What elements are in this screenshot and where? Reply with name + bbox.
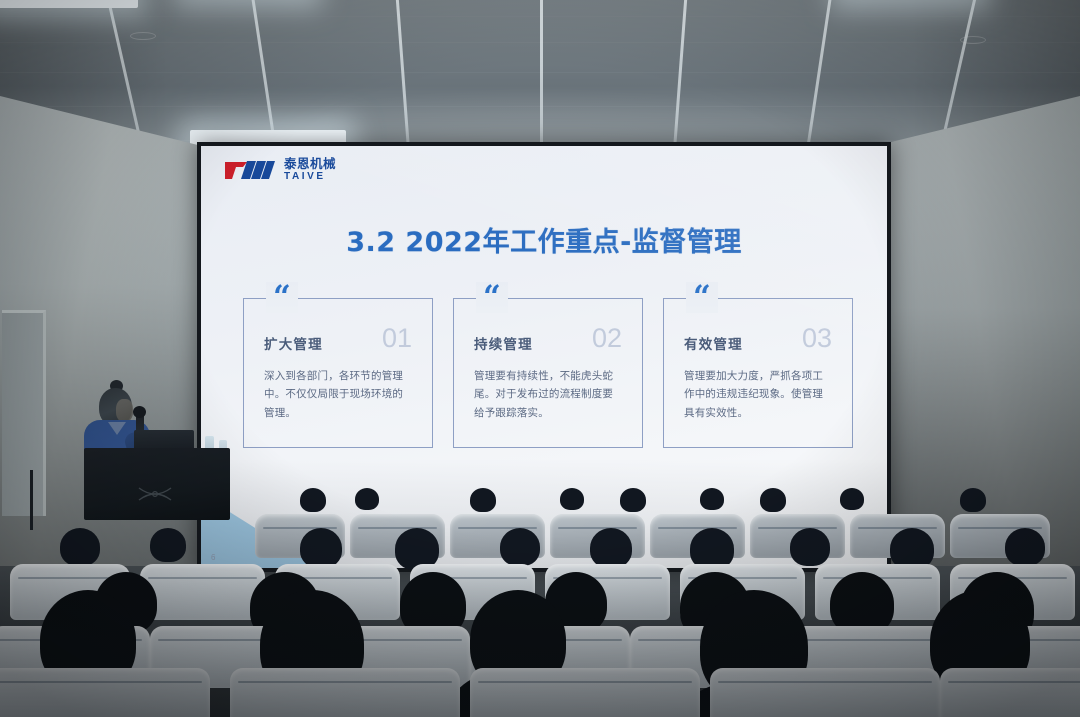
audience-seat: [0, 668, 210, 717]
audience-member-head: [300, 488, 326, 512]
company-logo: 泰恩机械 TAIVE: [223, 158, 336, 182]
audience-member-head: [960, 488, 986, 512]
audience-member-head: [590, 528, 632, 568]
audience-seat: [940, 668, 1080, 717]
audience-member-head: [760, 488, 786, 512]
audience-member-head: [790, 528, 830, 566]
audience-member-head: [840, 488, 864, 510]
card-body-text: 深入到各部门，各环节的管理中。不仅仅局限于现场环境的管理。: [264, 367, 412, 422]
audience-member-head: [355, 488, 379, 510]
audience-member-head: [500, 528, 540, 566]
logo-chinese-name: 泰恩机械: [284, 158, 336, 171]
audience-member-head: [60, 528, 100, 566]
ceiling-seam: [0, 72, 1080, 73]
card-number: 03: [802, 325, 832, 352]
ceiling-seam: [0, 16, 1080, 17]
card-body-text: 管理要加大力度，严抓各项工作中的违规违纪现象。使管理具有实效性。: [684, 367, 832, 422]
ceiling-rail: [540, 0, 543, 162]
audience-member-head: [700, 488, 724, 510]
audience-seat: [710, 668, 940, 717]
audience-member-head: [470, 488, 496, 512]
audience-member-head: [620, 488, 646, 512]
card-number: 01: [382, 325, 412, 352]
ceiling-vent-1: [130, 32, 156, 40]
quote-mark-icon: “: [266, 282, 298, 313]
audience-seat: [470, 668, 700, 717]
microphone-head: [133, 406, 146, 418]
card-heading: 有效管理: [684, 333, 743, 353]
slide-card-02: “持续管理02管理要有持续性，不能虎头蛇尾。对于发布过的流程制度要给予跟踪落实。: [453, 298, 643, 448]
audience-member-head: [150, 528, 186, 562]
audience-member-head: [560, 488, 584, 510]
audience-seat: [140, 564, 265, 620]
ceiling-vent-2: [960, 36, 986, 44]
slide-card-03: “有效管理03管理要加大力度，严抓各项工作中的违规违纪现象。使管理具有实效性。: [663, 298, 853, 448]
audience-member-head: [300, 528, 342, 568]
slide-card-01: “扩大管理01深入到各部门，各环节的管理中。不仅仅局限于现场环境的管理。: [243, 298, 433, 448]
quote-mark-icon: “: [686, 282, 718, 313]
presenter-face: [116, 399, 133, 422]
taive-logo-icon: [223, 158, 277, 182]
ceiling-light-1: [0, 0, 138, 8]
quote-mark-icon: “: [476, 282, 508, 313]
card-body-text: 管理要有持续性，不能虎头蛇尾。对于发布过的流程制度要给予跟踪落实。: [474, 367, 622, 422]
ceiling-seam: [0, 42, 1080, 43]
conference-room-photo: 泰恩机械 TAIVE 3.2 2022年工作重点-监督管理 “扩大管理01深入到…: [0, 0, 1080, 717]
card-heading: 扩大管理: [264, 333, 323, 353]
card-heading: 持续管理: [474, 333, 533, 353]
ceiling-seam: [0, 106, 1080, 107]
slide-card-row: “扩大管理01深入到各部门，各环节的管理中。不仅仅局限于现场环境的管理。“持续管…: [243, 298, 853, 448]
logo-english-name: TAIVE: [284, 172, 336, 182]
audience-member-head: [1005, 528, 1045, 566]
audience-seat: [230, 668, 460, 717]
audience-seating: [0, 440, 1080, 717]
slide-title: 3.2 2022年工作重点-监督管理: [201, 220, 887, 259]
card-number: 02: [592, 325, 622, 352]
